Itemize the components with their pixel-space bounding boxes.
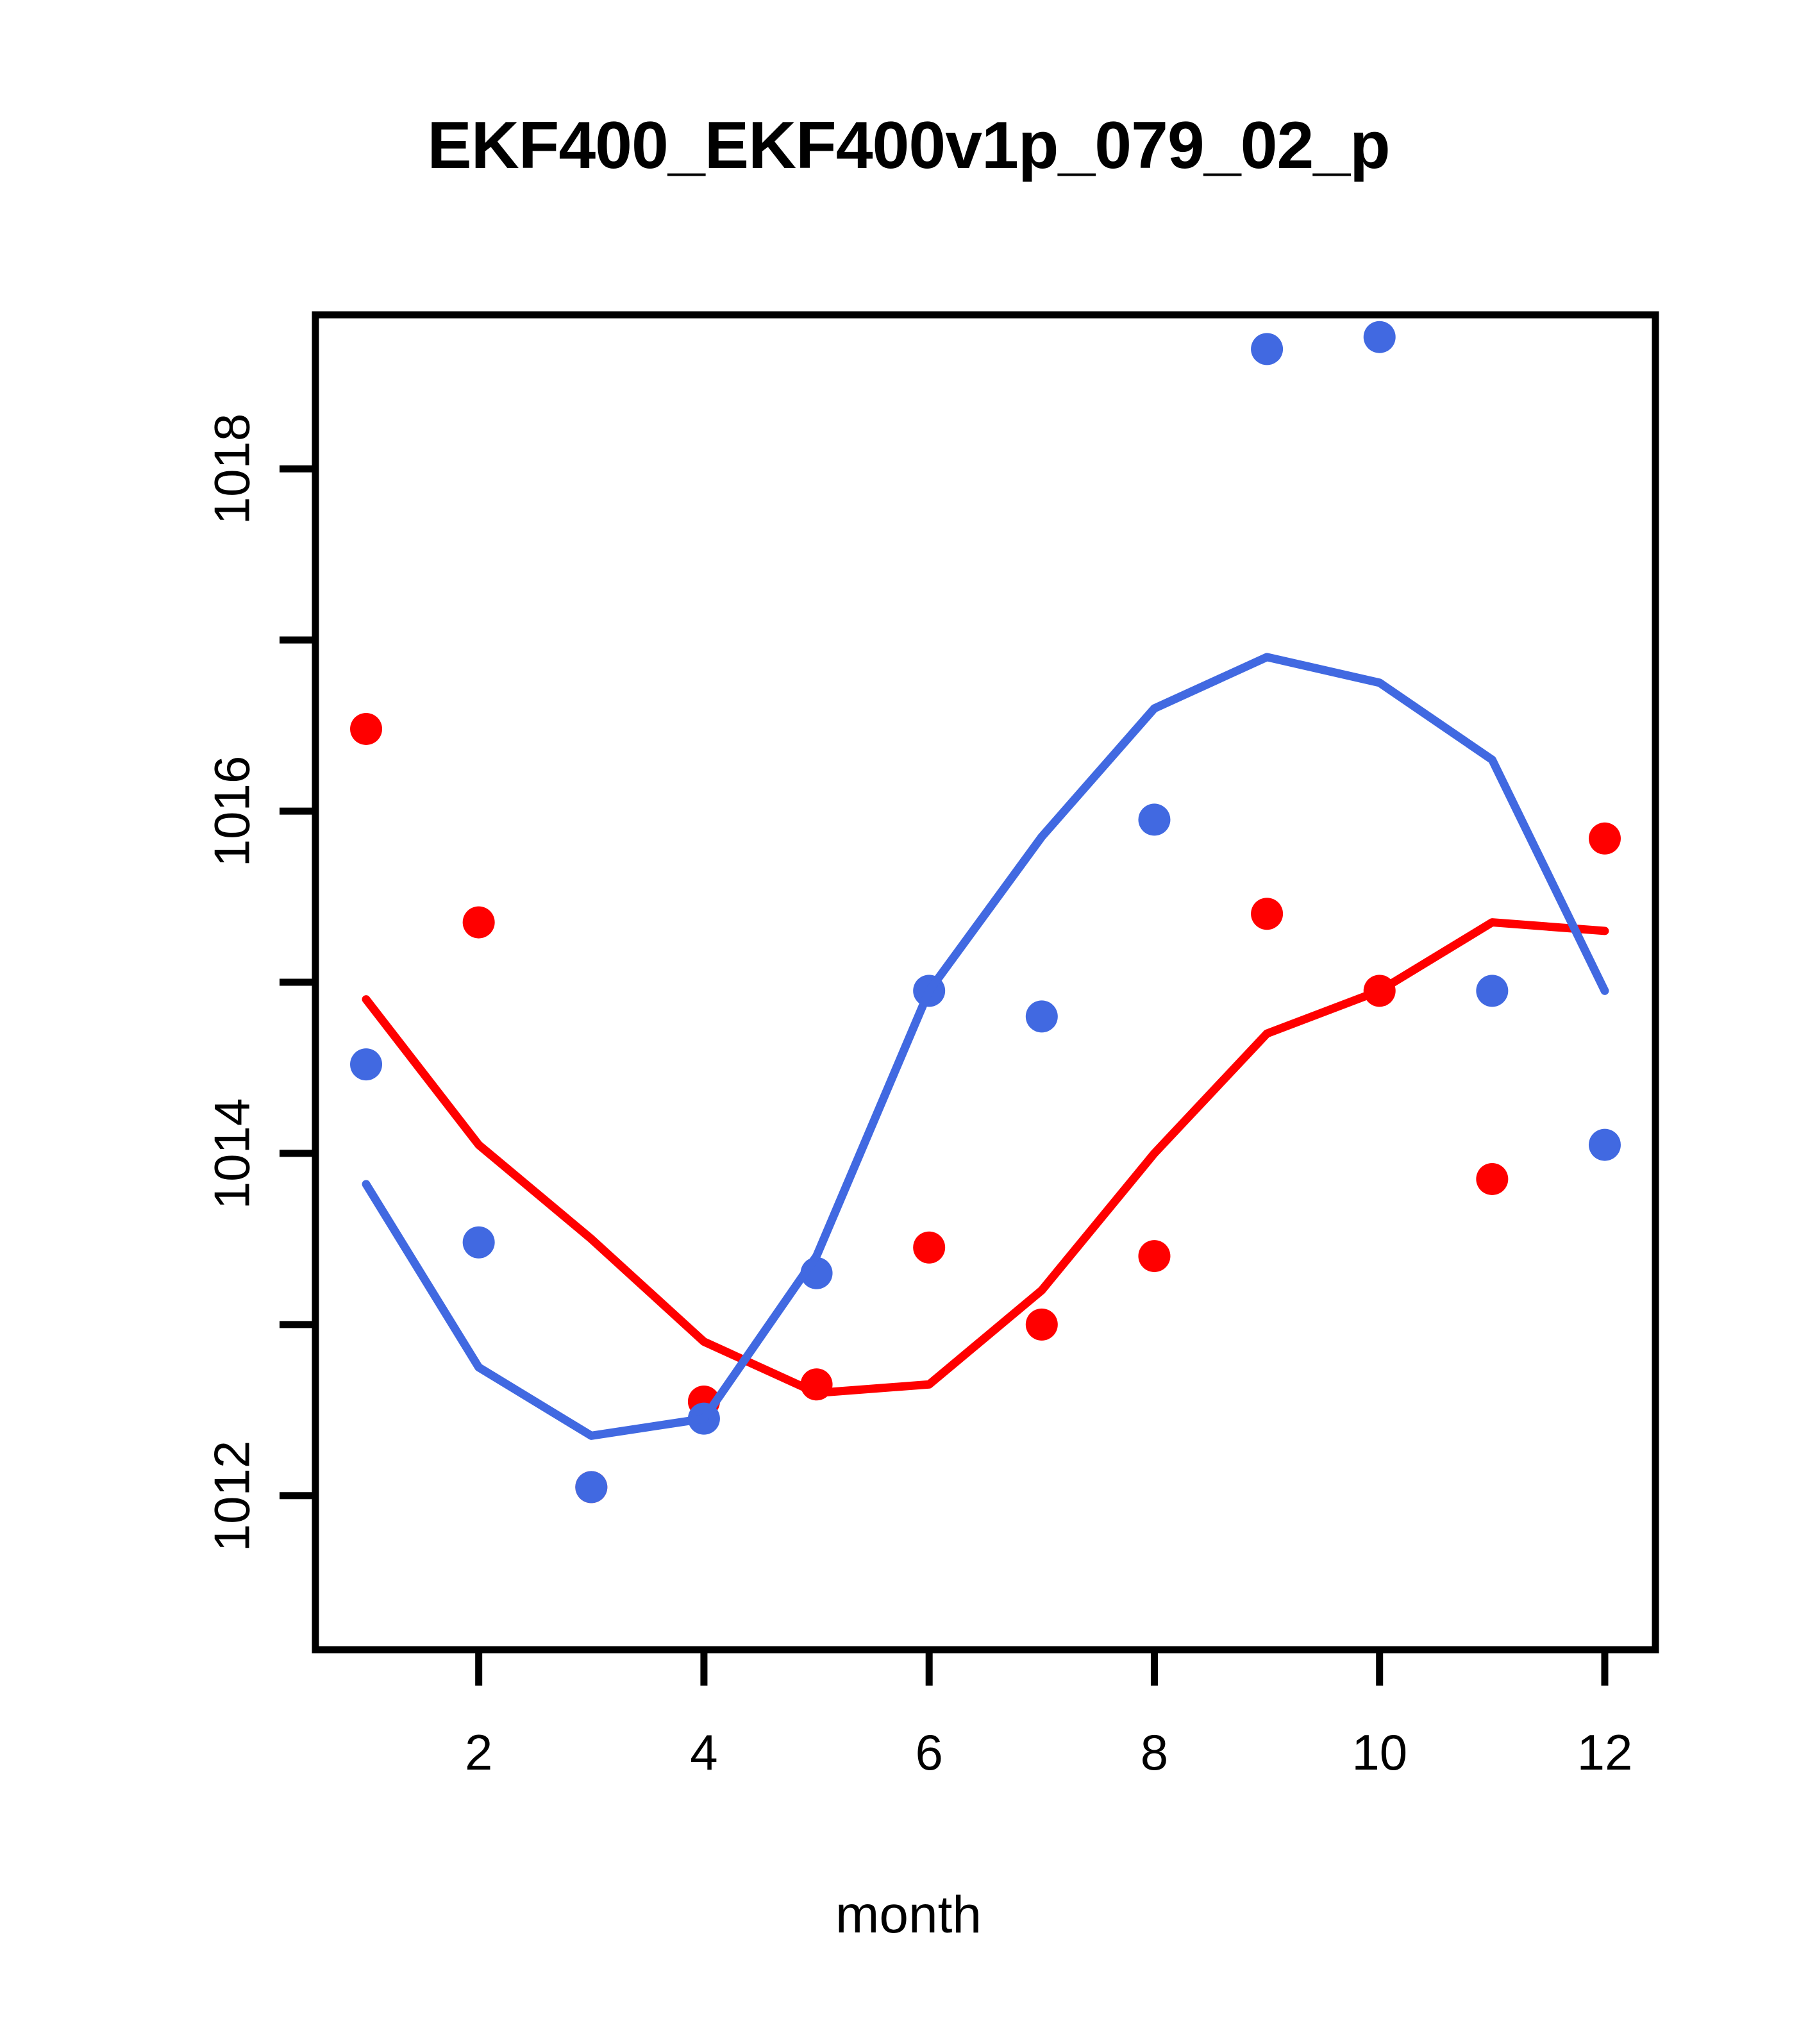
plot-frame [315,315,1655,1650]
data-point [1138,1240,1170,1272]
series-line-blue-line [366,657,1605,1436]
x-tick-label: 12 [1541,1723,1669,1782]
x-axis-title: month [0,1885,1817,1945]
data-point [1364,321,1396,353]
x-tick-label: 2 [415,1723,543,1782]
plot-border [315,315,1655,1650]
chart-page: EKF400_EKF400v1p_079_02_p 10121014101610… [0,0,1817,2044]
data-point [1476,1163,1508,1195]
series-line-red-line [366,923,1605,1393]
x-tick-label: 6 [865,1723,993,1782]
data-point [1251,333,1283,365]
data-point [575,1471,607,1503]
data-point [1026,1309,1058,1341]
series-points-red-points [350,713,1621,1503]
y-tick-label: 1016 [203,748,262,876]
series-layer [350,321,1621,1504]
data-point [1026,1000,1058,1032]
data-point [1476,975,1508,1007]
x-tick-label: 10 [1316,1723,1444,1782]
y-tick-label: 1018 [203,405,262,533]
x-tick-label: 8 [1090,1723,1218,1782]
data-point [1589,823,1621,855]
data-point [1251,898,1283,930]
data-point [463,907,495,939]
data-point [463,1227,495,1259]
data-point [1138,803,1170,835]
data-point [1589,1129,1621,1161]
data-point [350,1048,382,1080]
data-point [350,713,382,745]
y-tick-label: 1012 [203,1432,262,1560]
data-point [913,1232,945,1264]
y-tick-label: 1014 [203,1089,262,1218]
axis-ticks [280,469,1605,1686]
x-tick-label: 4 [640,1723,768,1782]
